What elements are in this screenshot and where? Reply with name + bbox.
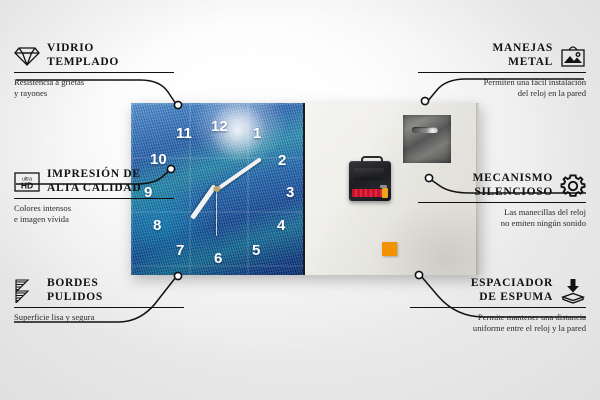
- foam-spacer-icon: [560, 278, 586, 304]
- callout-title-line1: BORDES: [47, 277, 103, 291]
- clock-numeral-5: 5: [252, 243, 260, 258]
- callout-title-line2: DE ESPUMA: [471, 291, 553, 305]
- callout-title-line2: TEMPLADO: [47, 56, 119, 70]
- callout-title-line1: IMPRESIÓN DE: [47, 168, 141, 182]
- callout-manejas-metal[interactable]: MANEJAS METAL Permiten una fácil instala…: [418, 42, 586, 99]
- callout-title-line2: METAL: [493, 56, 554, 70]
- mechanism-orange-tab: [382, 188, 388, 198]
- metal-hanger-plate: [403, 115, 451, 163]
- callout-desc-line2: no emiten ningún sonido: [418, 218, 586, 229]
- callout-rule: [14, 307, 184, 308]
- callout-rule: [14, 198, 174, 199]
- clock-numeral-4: 4: [277, 218, 285, 233]
- foam-spacer: [382, 242, 397, 256]
- callout-vidrio-templado[interactable]: VIDRIO TEMPLADO Resistencia a grietas y …: [14, 42, 174, 99]
- clock-numeral-1: 1: [253, 126, 261, 141]
- callout-desc-line1: Las manecillas del reloj: [418, 207, 586, 218]
- callout-desc-line1: Permite mantener una distancia: [410, 312, 586, 323]
- callout-desc-line1: Colores intensos: [14, 203, 174, 214]
- gear-icon: [560, 173, 586, 199]
- clock-center-cap: [214, 186, 220, 192]
- callout-impresion-alta-calidad[interactable]: ultra HD IMPRESIÓN DE ALTA CALIDAD Color…: [14, 168, 174, 225]
- callout-title-line2: PULIDOS: [47, 291, 103, 305]
- callout-desc-line2: del reloj en la pared: [418, 88, 586, 99]
- infographic-canvas: 12 1 2 3 4 5 6 7 8 9 10 11: [0, 0, 600, 400]
- callout-desc-line1: Resistencia a grietas: [14, 77, 174, 88]
- callout-desc-line2: uniforme entre el reloj y la pared: [410, 323, 586, 334]
- callout-title-line1: MANEJAS: [493, 42, 554, 56]
- mechanism-hook: [361, 156, 383, 165]
- callout-title-line2: SILENCIOSO: [473, 186, 553, 200]
- diamond-icon: [14, 43, 40, 69]
- clock-numeral-2: 2: [278, 153, 286, 168]
- callout-mecanismo-silencioso[interactable]: MECANISMO SILENCIOSO Las manecillas del …: [418, 172, 586, 229]
- wall-mount-icon: [560, 43, 586, 69]
- clock-mechanism-box: [349, 161, 391, 201]
- clock-numeral-3: 3: [286, 185, 294, 200]
- clock-numeral-7: 7: [176, 243, 184, 258]
- callout-rule: [14, 72, 174, 73]
- callout-rule: [418, 72, 586, 73]
- clock-second-hand: [216, 188, 217, 236]
- clock-numeral-6: 6: [214, 251, 222, 266]
- mechanism-red-label: [352, 189, 386, 197]
- clock-numeral-10: 10: [150, 152, 167, 167]
- callout-bordes-pulidos[interactable]: BORDES PULIDOS Superficie lisa y segura: [14, 277, 184, 323]
- callout-desc-line1: Permiten una fácil instalación: [418, 77, 586, 88]
- ultra-hd-icon-bottom: HD: [21, 180, 33, 190]
- clock-numeral-11: 11: [176, 126, 192, 141]
- ultra-hd-icon: ultra HD: [14, 169, 40, 195]
- callout-espaciador-espuma[interactable]: ESPACIADOR DE ESPUMA Permite mantener un…: [410, 277, 586, 334]
- polished-edges-icon: [14, 278, 40, 304]
- callout-title-line1: ESPACIADOR: [471, 277, 553, 291]
- callout-title-line1: VIDRIO: [47, 42, 119, 56]
- clock-numeral-12: 12: [211, 119, 228, 134]
- callout-title-line2: ALTA CALIDAD: [47, 182, 141, 196]
- callout-desc-line2: y rayones: [14, 88, 174, 99]
- mechanism-ridge: [354, 168, 384, 180]
- callout-desc-line1: Superficie lisa y segura: [14, 312, 184, 323]
- callout-title-line1: MECANISMO: [473, 172, 553, 186]
- hanger-slot: [412, 127, 438, 133]
- callout-rule: [418, 202, 586, 203]
- callout-desc-line2: e imagen vívida: [14, 214, 174, 225]
- callout-rule: [410, 307, 586, 308]
